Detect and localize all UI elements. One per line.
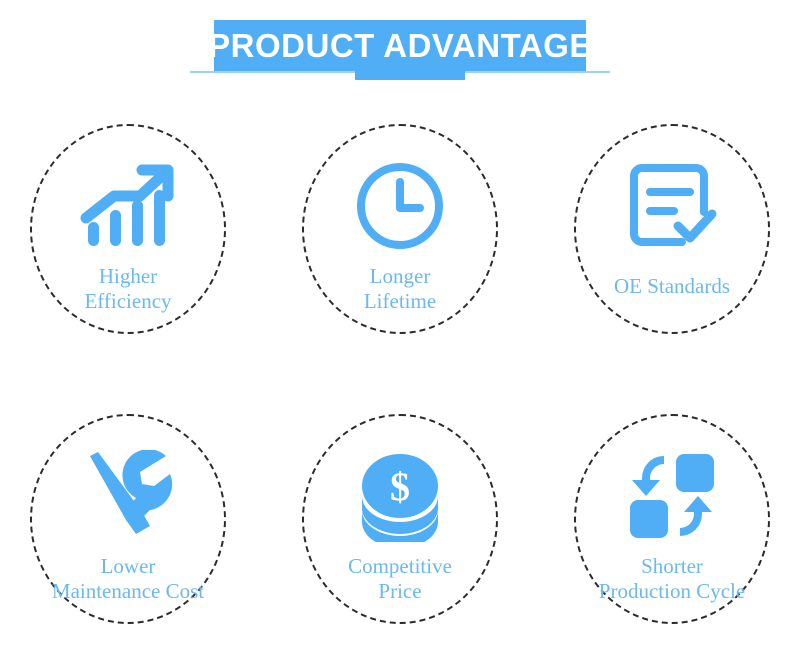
feature-label: Lower Maintenance Cost xyxy=(52,554,204,604)
exchange-cycle-arrows-icon xyxy=(622,446,722,546)
feature-label-line1: Longer xyxy=(364,264,436,289)
feature-label: Competitive Price xyxy=(348,554,452,604)
feature-label-line2: Production Cycle xyxy=(599,579,745,604)
clock-icon xyxy=(350,156,450,256)
feature-label: OE Standards xyxy=(614,274,730,299)
feature-label: Higher Efficiency xyxy=(84,264,171,314)
feature-label-line1: Shorter xyxy=(599,554,745,579)
svg-text:$: $ xyxy=(390,464,410,509)
feature-card-lower-maintenance-cost[interactable]: Lower Maintenance Cost xyxy=(30,414,226,624)
feature-label-line1: Competitive xyxy=(348,554,452,579)
document-checkmark-icon xyxy=(622,156,722,256)
header-tab-accent xyxy=(355,71,465,80)
trending-up-chart-icon xyxy=(78,156,178,256)
page-title: PRODUCT ADVANTAGE xyxy=(208,29,592,62)
feature-label-line2: Lifetime xyxy=(364,289,436,314)
feature-label-line1: OE Standards xyxy=(614,274,730,299)
feature-label-line2: Maintenance Cost xyxy=(52,579,204,604)
feature-card-longer-lifetime[interactable]: Longer Lifetime xyxy=(302,124,498,334)
page-header: PRODUCT ADVANTAGE xyxy=(0,0,800,100)
feature-card-shorter-production-cycle[interactable]: Shorter Production Cycle xyxy=(574,414,770,624)
coin-stack-dollar-icon: $ xyxy=(350,446,450,546)
feature-grid: Higher Efficiency Longer Lifetime xyxy=(0,100,800,665)
feature-label-line1: Lower xyxy=(52,554,204,579)
feature-label: Longer Lifetime xyxy=(364,264,436,314)
feature-label: Shorter Production Cycle xyxy=(599,554,745,604)
feature-card-competitive-price[interactable]: $ Competitive Price xyxy=(302,414,498,624)
feature-card-higher-efficiency[interactable]: Higher Efficiency xyxy=(30,124,226,334)
header-title-banner: PRODUCT ADVANTAGE xyxy=(214,20,586,71)
feature-label-line2: Efficiency xyxy=(84,289,171,314)
feature-card-oe-standards[interactable]: OE Standards xyxy=(574,124,770,334)
feature-label-line1: Higher xyxy=(84,264,171,289)
wrench-screwdriver-icon xyxy=(78,446,178,546)
feature-label-line2: Price xyxy=(348,579,452,604)
